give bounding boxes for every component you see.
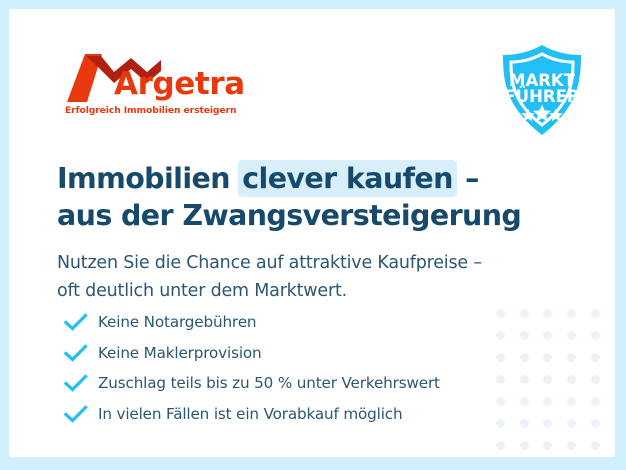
decorative-dot	[591, 419, 600, 428]
decorative-dot	[543, 353, 552, 362]
benefit-label: Keine Maklerprovision	[98, 344, 262, 362]
decorative-dot	[567, 441, 576, 450]
decorative-dot	[520, 441, 529, 450]
logo-tagline: Erfolgreich Immobilien ersteigern	[65, 105, 236, 116]
decorative-dot	[591, 331, 600, 340]
benefit-label: Keine Notargebühren	[98, 313, 256, 331]
subheadline: Nutzen Sie die Chance auf attraktive Kau…	[57, 249, 527, 305]
headline-text-before: Immobilien	[57, 162, 239, 195]
decorative-dot	[567, 397, 576, 406]
benefit-label: Zuschlag teils bis zu 50 % unter Verkehr…	[98, 374, 440, 392]
decorative-dot	[591, 309, 600, 318]
decorative-dot	[567, 309, 576, 318]
benefit-item: Keine Notargebühren	[64, 307, 544, 338]
check-icon	[64, 344, 88, 362]
benefit-item: Keine Maklerprovision	[64, 338, 544, 369]
decorative-dot	[543, 397, 552, 406]
decorative-dot	[543, 331, 552, 340]
headline-line-1: Immobilien clever kaufen –	[57, 160, 497, 197]
decorative-dot	[567, 331, 576, 340]
shield-icon: MARKT FÜHRER	[494, 42, 590, 138]
decorative-dot	[567, 353, 576, 362]
decorative-dot	[591, 375, 600, 384]
subheadline-line-2: oft deutlich unter dem Marktwert.	[57, 277, 527, 305]
check-icon	[64, 374, 88, 392]
decorative-dot	[543, 375, 552, 384]
benefit-label: In vielen Fällen ist ein Vorabkauf mögli…	[98, 405, 403, 423]
decorative-dot	[567, 419, 576, 428]
decorative-dot	[567, 375, 576, 384]
decorative-dot	[591, 441, 600, 450]
market-leader-badge: MARKT FÜHRER	[494, 42, 590, 138]
check-icon	[64, 313, 88, 331]
benefit-list: Keine NotargebührenKeine Maklerprovision…	[64, 307, 544, 429]
headline: Immobilien clever kaufen – aus der Zwang…	[57, 160, 497, 234]
decorative-dot	[543, 441, 552, 450]
headline-highlight: clever kaufen	[238, 160, 457, 197]
subheadline-line-1: Nutzen Sie die Chance auf attraktive Kau…	[57, 249, 527, 277]
badge-line2: FÜHRER	[504, 87, 579, 106]
check-icon	[64, 405, 88, 423]
decorative-dot	[496, 441, 505, 450]
benefit-item: In vielen Fällen ist ein Vorabkauf mögli…	[64, 399, 544, 430]
decorative-dot	[543, 309, 552, 318]
argetra-logo[interactable]: Argetra Erfolgreich Immobilien ersteiger…	[57, 47, 257, 119]
headline-line-2: aus der Zwangsversteigerung	[57, 197, 497, 234]
benefit-item: Zuschlag teils bis zu 50 % unter Verkehr…	[64, 368, 544, 399]
banner-card: Argetra Erfolgreich Immobilien ersteiger…	[9, 9, 615, 457]
logo-wordmark: Argetra	[114, 69, 245, 100]
promo-banner: Argetra Erfolgreich Immobilien ersteiger…	[0, 0, 626, 470]
headline-text-after: –	[456, 162, 479, 195]
decorative-dot	[591, 397, 600, 406]
decorative-dot	[591, 353, 600, 362]
decorative-dot	[543, 419, 552, 428]
